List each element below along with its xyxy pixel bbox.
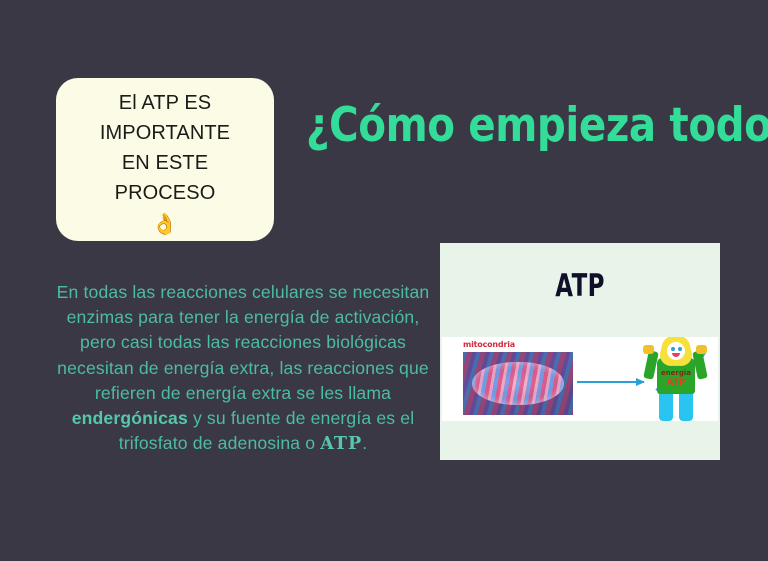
paragraph-acronym: ATP (320, 433, 362, 454)
paragraph-part-1: En todas las reacciones celulares se nec… (57, 282, 430, 403)
callout-line-2: IMPORTANTE (100, 118, 230, 148)
character-left-hand (643, 345, 654, 354)
character-shirt-acronym: ATP (657, 378, 695, 388)
callout-box: El ATP ES IMPORTANTE EN ESTE PROCESO 👌 (56, 78, 274, 241)
character-face (667, 342, 685, 360)
paragraph-emphasis: endergónicas (72, 408, 188, 428)
character-mouth (672, 353, 680, 357)
character-left-leg (659, 391, 673, 421)
callout-line-4: PROCESO (115, 178, 216, 208)
character-right-eye (678, 347, 682, 351)
callout-line-3: EN ESTE (122, 148, 208, 178)
character-left-eye (671, 347, 675, 351)
character-right-hand (696, 345, 707, 354)
mitochondria-photo (463, 352, 573, 415)
atp-illustration: mitocondria energia ATP (442, 337, 718, 421)
mitochondria-label: mitocondria (463, 340, 515, 350)
panel-heading: ATP (476, 269, 683, 303)
character-shirt-text: energia (657, 369, 695, 377)
arrow-right-icon (577, 381, 644, 383)
body-paragraph: En todas las reacciones celulares se nec… (52, 280, 434, 456)
slide-canvas: El ATP ES IMPORTANTE EN ESTE PROCESO 👌 ¿… (0, 0, 768, 561)
callout-line-1: El ATP ES (119, 88, 211, 118)
energy-character-illustration: energia ATP (638, 337, 712, 421)
ok-hand-emoji: 👌 (152, 212, 178, 238)
character-right-leg (679, 391, 693, 421)
paragraph-part-3: . (362, 433, 367, 453)
image-panel: ATP mitocondria energia (440, 243, 720, 460)
page-title: ¿Cómo empieza todo? (306, 98, 667, 154)
